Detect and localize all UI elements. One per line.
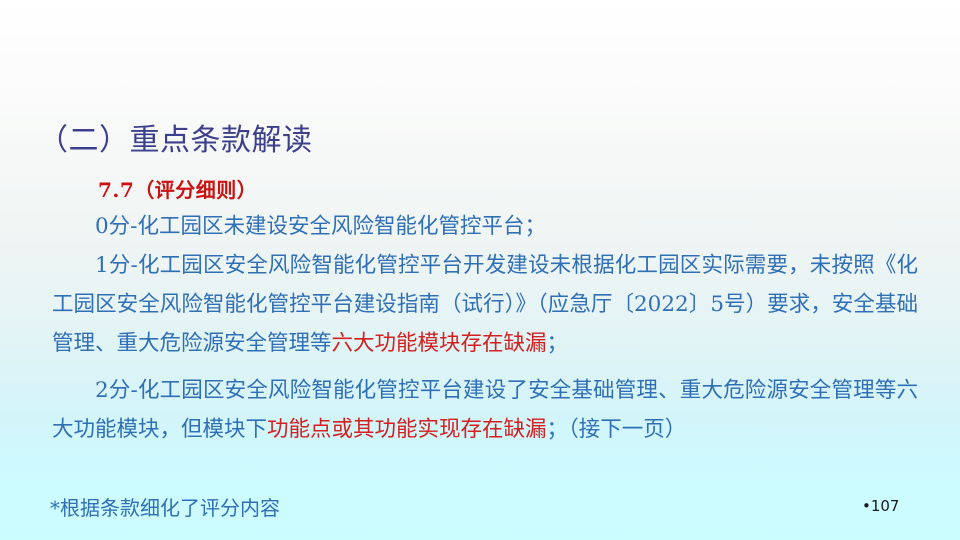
page-title: （二）重点条款解读 [38, 124, 313, 157]
section-subheading: 7.7（评分细则） [98, 174, 257, 203]
body-content: 0分-化工园区未建设安全风险智能化管控平台； 1分-化工园区安全风险智能化管控平… [52, 207, 918, 449]
run-text: 0分-化工园区未建设安全风险智能化管控平台； [95, 214, 546, 239]
run-text: ； [547, 331, 569, 356]
footnote-text: *根据条款细化了评分内容 [50, 492, 280, 521]
run-text-emphasis: 功能点或其功能实现存在缺漏 [267, 417, 547, 442]
run-text-emphasis: 六大功能模块存在缺漏 [332, 331, 547, 356]
slide-canvas: （二）重点条款解读 7.7（评分细则） 0分-化工园区未建设安全风险智能化管控平… [0, 0, 960, 540]
page-number: •107 [862, 497, 899, 515]
run-text: ；（接下一页） [547, 417, 687, 442]
paragraph-score-0: 0分-化工园区未建设安全风险智能化管控平台； [52, 207, 918, 246]
paragraph-score-2: 2分-化工园区安全风险智能化管控平台建设了安全基础管理、重大危险源安全管理等六大… [52, 371, 918, 449]
paragraph-score-1: 1分-化工园区安全风险智能化管控平台开发建设未根据化工园区实际需要，未按照《化工… [52, 246, 918, 363]
